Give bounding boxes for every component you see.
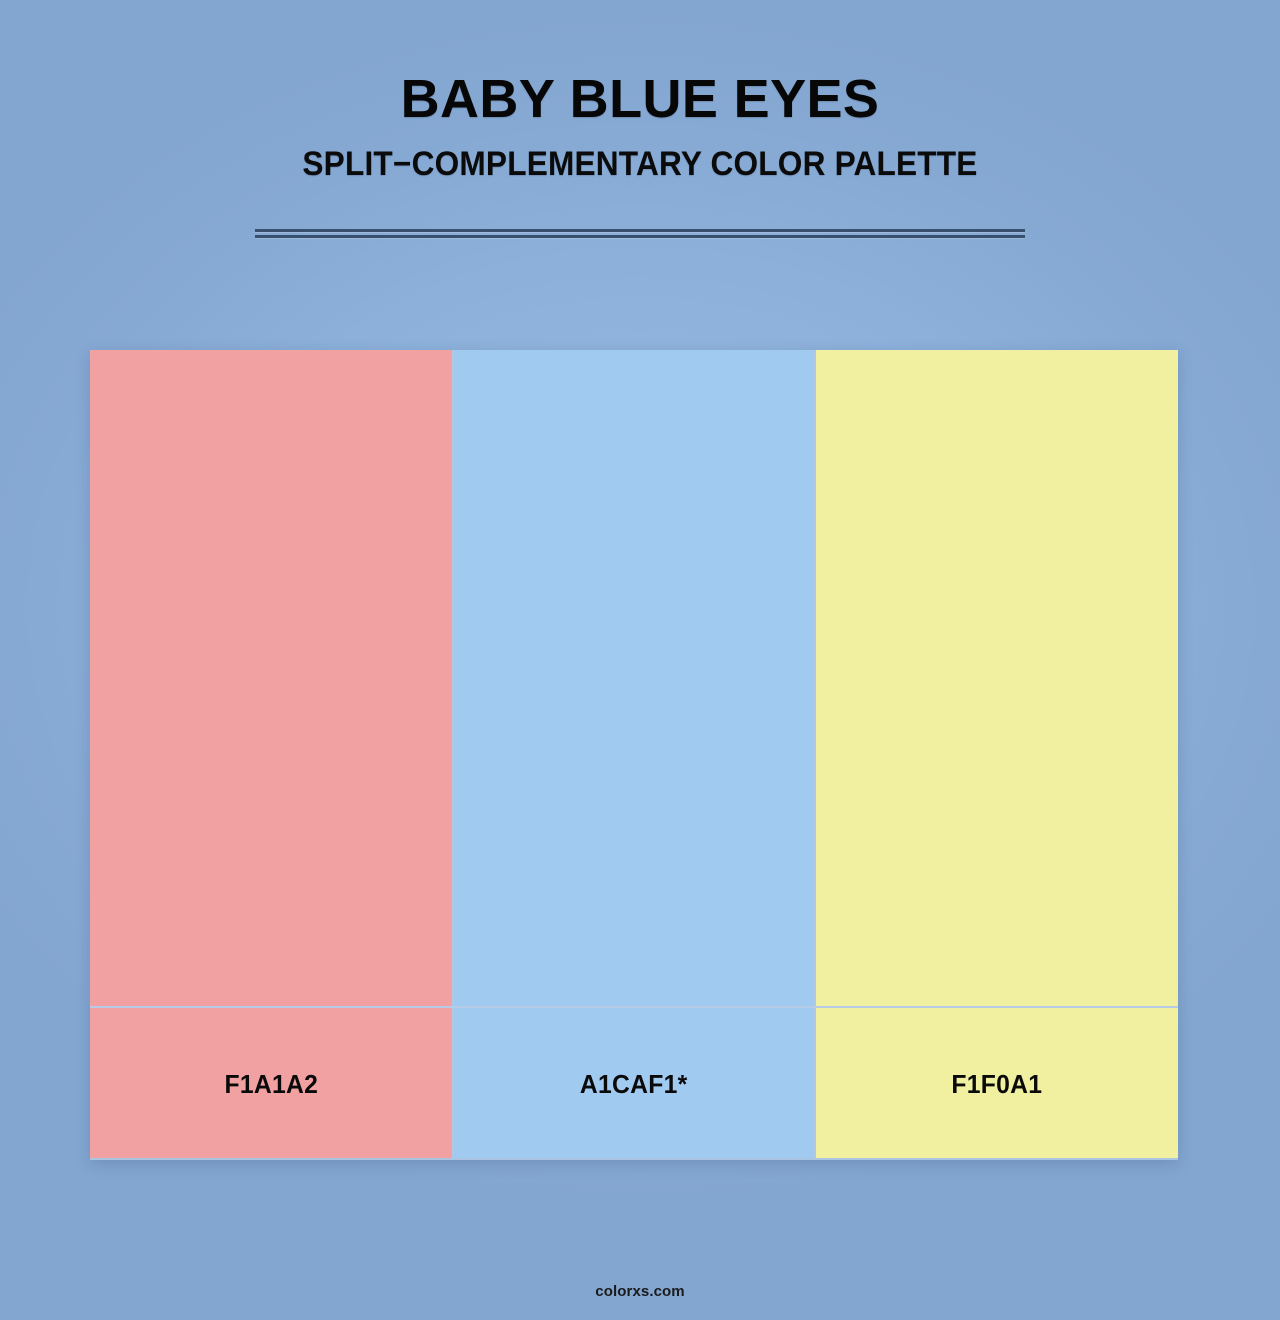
divider-line-top xyxy=(255,229,1025,232)
color-hex-label: F1F0A1 xyxy=(952,1069,1043,1100)
color-swatch-label-cell[interactable]: F1A1A2 xyxy=(90,1008,452,1160)
swatch-row xyxy=(90,350,1178,1006)
color-swatch[interactable] xyxy=(816,350,1178,1006)
page-subtitle: SPLIT−COMPLEMENTARY COLOR PALETTE xyxy=(45,130,1235,184)
divider-line-bottom xyxy=(255,235,1025,238)
color-hex-label: A1CAF1* xyxy=(580,1069,688,1100)
swatch-label-row: F1A1A2A1CAF1*F1F0A1 xyxy=(90,1008,1178,1160)
footer: colorxs.com xyxy=(0,1283,1280,1301)
header: BABY BLUE EYES SPLIT−COMPLEMENTARY COLOR… xyxy=(0,0,1280,184)
page-title: BABY BLUE EYES xyxy=(0,0,1280,130)
site-credit: colorxs.com xyxy=(595,1283,684,1300)
color-swatch-label-cell[interactable]: A1CAF1* xyxy=(454,1008,814,1160)
color-swatch[interactable] xyxy=(454,350,814,1006)
color-hex-label: F1A1A2 xyxy=(224,1069,318,1100)
color-swatch[interactable] xyxy=(90,350,452,1006)
panel-edge-bottom xyxy=(90,1158,1178,1160)
palette-page: BABY BLUE EYES SPLIT−COMPLEMENTARY COLOR… xyxy=(0,0,1280,1320)
title-divider xyxy=(255,229,1025,238)
color-swatch-label-cell[interactable]: F1F0A1 xyxy=(816,1008,1178,1160)
color-palette-panel: F1A1A2A1CAF1*F1F0A1 xyxy=(90,350,1178,1160)
